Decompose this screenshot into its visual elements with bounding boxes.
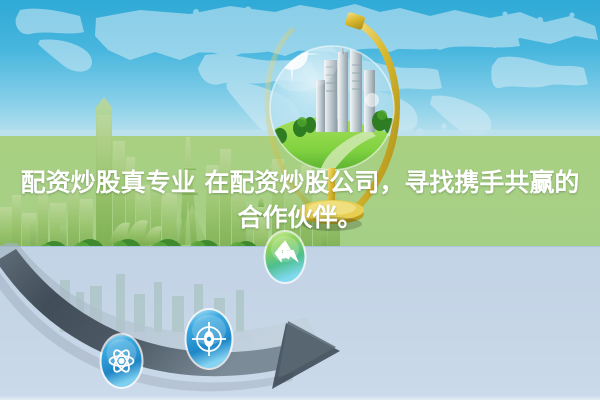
target-icon[interactable] [183,306,235,372]
bottom-edge [0,396,600,400]
banner-headline: 配资炒股真专业 在配资炒股公司，寻找携手共赢的 合作伙伴。 [0,165,600,235]
recycle-icon[interactable] [262,228,308,286]
atom-icon[interactable] [98,331,145,391]
headline-line-1: 配资炒股真专业 在配资炒股公司，寻找携手共赢的 [0,165,600,200]
headline-line-2: 合作伙伴。 [0,200,600,235]
promo-banner: 配资炒股真专业 在配资炒股公司，寻找携手共赢的 合作伙伴。 [0,0,600,400]
